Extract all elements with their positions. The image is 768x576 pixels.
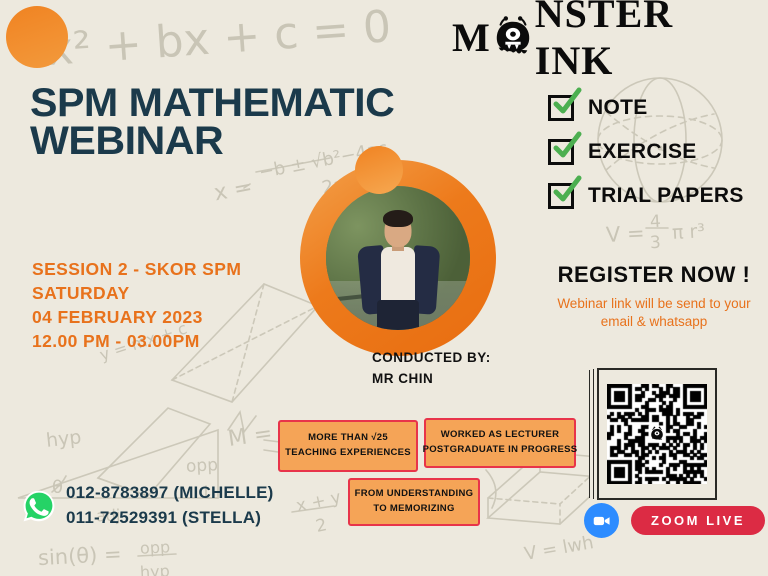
- credential-badge-line: TEACHING EXPERIENCES: [285, 446, 411, 461]
- poster-canvas: ax² + bx + c = 0x =−b ± √b²−4ac2aV =43π …: [0, 0, 768, 576]
- brand-logo-text-before: M: [452, 14, 491, 61]
- page-title-line-1: SPM MATHEMATIC: [30, 84, 394, 122]
- triangle-opp-label: opp: [185, 455, 218, 477]
- contact-number[interactable]: 012-8783897 (MICHELLE): [66, 481, 274, 506]
- checklist-item-trial-papers[interactable]: TRIAL PAPERS: [548, 174, 744, 218]
- sine-formula-numerator: opp: [140, 537, 171, 558]
- checkbox-trial-papers[interactable]: [548, 183, 574, 209]
- session-details: SESSION 2 - SKOR SPM SATURDAY 04 FEBRUAR…: [32, 257, 241, 354]
- checklist-label: EXERCISE: [588, 140, 697, 164]
- quadratic-formula-doodle: x =: [212, 175, 255, 207]
- contact-number[interactable]: 011-72529391 (STELLA): [66, 506, 274, 531]
- checkbox-note[interactable]: [548, 95, 574, 121]
- register-subtitle: Webinar link will be send to your email …: [548, 295, 760, 331]
- photo-pants: [377, 300, 419, 330]
- qr-code-frame[interactable]: [597, 368, 717, 500]
- photo-hair: [383, 210, 413, 227]
- credential-badge-line: POSTGRADUATE IN PROGRESS: [423, 443, 578, 458]
- page-title: SPM MATHEMATIC WEBINAR: [30, 84, 384, 161]
- monster-head-icon: [492, 16, 534, 58]
- session-detail-line: SESSION 2 - SKOR SPM: [32, 257, 241, 281]
- fraction-bar-algebra: [292, 506, 334, 512]
- checklist-item-exercise[interactable]: EXERCISE: [548, 130, 744, 174]
- session-detail-line: SATURDAY: [32, 281, 241, 305]
- credential-badge: FROM UNDERSTANDING TO MEMORIZING: [348, 478, 480, 526]
- zoom-live-row: ZOOM LIVE: [584, 503, 765, 538]
- brand-logo-text: M: [452, 0, 752, 84]
- monster-head-icon: [649, 426, 666, 443]
- register-section: REGISTER NOW ! Webinar link will be send…: [548, 262, 760, 331]
- decorative-circle-top-left: [6, 6, 68, 68]
- brand-logo-text-after: NSTER INK: [535, 0, 752, 84]
- fraction-bar-sine: [138, 554, 176, 556]
- credential-badge-line: TO MEMORIZING: [373, 502, 454, 517]
- session-detail-line: 04 FEBRUARY 2023: [32, 305, 241, 329]
- contact-section: 012-8783897 (MICHELLE) 011-72529391 (STE…: [22, 481, 274, 530]
- photo-shirt: [381, 247, 415, 305]
- checkmark-icon: [552, 175, 582, 205]
- algebra-fraction-doodle: x + y: [294, 488, 342, 517]
- presenter-name: MR CHIN: [372, 369, 491, 390]
- presenter-caption: CONDUCTED BY: MR CHIN: [372, 348, 491, 390]
- contact-numbers: 012-8783897 (MICHELLE) 011-72529391 (STE…: [66, 481, 274, 530]
- sphere-volume-pi: π r³: [671, 220, 705, 244]
- triangle-hyp-label: hyp: [45, 426, 82, 452]
- m-equals-doodle: M =: [226, 421, 273, 452]
- presenter-photo-frame: [300, 160, 496, 356]
- session-detail-line: 12.00 PM - 03.00PM: [32, 329, 241, 353]
- sine-formula-doodle: sin(θ) =: [37, 542, 122, 570]
- checklist-label: NOTE: [588, 96, 648, 120]
- page-title-line-2: WEBINAR: [30, 122, 394, 160]
- credential-badge-line: FROM UNDERSTANDING: [355, 487, 474, 502]
- sphere-volume-doodle: V =: [605, 221, 645, 247]
- algebra-fraction-doodle-2: 2: [314, 515, 329, 537]
- checklist-item-note[interactable]: NOTE: [548, 86, 744, 130]
- sine-formula-denominator: hyp: [140, 561, 171, 576]
- photo-person: [350, 210, 446, 330]
- credential-badge: WORKED AS LECTURER POSTGRADUATE IN PROGR…: [424, 418, 576, 468]
- credential-badge: MORE THAN √25 TEACHING EXPERIENCES: [278, 420, 418, 472]
- checkmark-icon: [552, 87, 582, 117]
- qr-code[interactable]: [607, 384, 707, 484]
- zigzag-doodle: [228, 412, 256, 432]
- credential-badge-line: MORE THAN √25: [308, 431, 388, 446]
- decorative-circle-portrait-top: [355, 146, 403, 194]
- quadratic-equation-doodle: ax² + bx + c = 0: [19, 1, 393, 78]
- zoom-live-badge[interactable]: ZOOM LIVE: [631, 506, 765, 535]
- checkbox-exercise[interactable]: [548, 139, 574, 165]
- credential-badge-line: WORKED AS LECTURER: [441, 428, 560, 443]
- whatsapp-icon[interactable]: [22, 489, 56, 523]
- presenter-photo: [326, 186, 470, 330]
- materials-checklist: NOTE EXERCISE TRIAL PAPERS: [548, 86, 744, 218]
- register-heading: REGISTER NOW !: [548, 262, 760, 288]
- checkmark-icon: [552, 131, 582, 161]
- conducted-by-label: CONDUCTED BY:: [372, 348, 491, 369]
- sphere-volume-fraction-denom: 3: [649, 233, 661, 254]
- checklist-label: TRIAL PAPERS: [588, 184, 744, 208]
- video-camera-icon[interactable]: [584, 503, 619, 538]
- brand-logo: M: [452, 8, 752, 66]
